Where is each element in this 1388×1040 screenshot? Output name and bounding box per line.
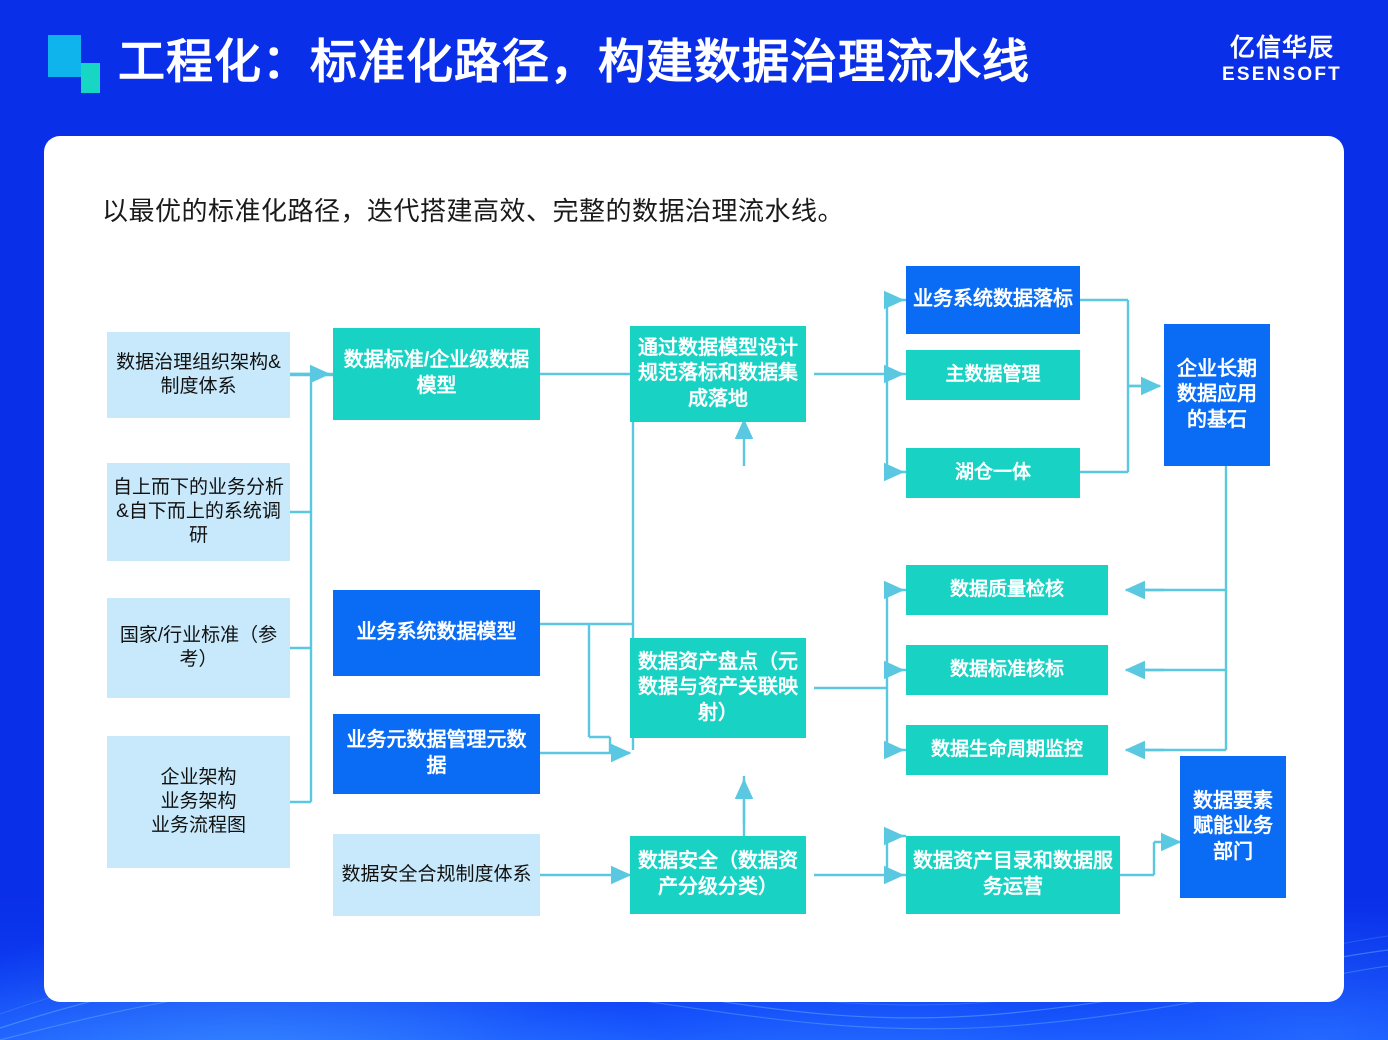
node-data-lifecycle-monitoring[interactable]: 数据生命周期监控 xyxy=(906,725,1108,775)
square-teal-icon xyxy=(81,63,100,93)
node-label: 数据标准核标 xyxy=(944,658,1070,682)
node-label: 业务流程图 xyxy=(145,814,252,838)
node-business-system-data-model[interactable]: 业务系统数据模型 xyxy=(333,590,540,676)
node-label: 数据安全（数据资产分级分类） xyxy=(630,849,806,900)
square-cyan-icon xyxy=(48,35,81,77)
brand-name-en: ESENSOFT xyxy=(1222,63,1342,86)
node-label: 主数据管理 xyxy=(939,363,1046,387)
node-label: 数据标准/企业级数据模型 xyxy=(333,348,540,399)
node-label: 业务元数据管理元数据 xyxy=(333,728,540,779)
node-enterprise-architecture[interactable]: 企业架构 业务架构 业务流程图 xyxy=(107,736,290,868)
node-label: 数据生命周期监控 xyxy=(925,738,1089,762)
node-label: 业务系统数据落标 xyxy=(907,287,1079,313)
node-label: 通过数据模型设计规范落标和数据集成落地 xyxy=(630,336,806,413)
node-business-management-metadata[interactable]: 业务元数据管理元数据 xyxy=(333,714,540,794)
node-label: 业务系统数据模型 xyxy=(351,620,523,646)
node-label: 数据资产目录和数据服务运营 xyxy=(906,849,1120,900)
slide-header: 工程化：标准化路径，构建数据治理流水线 亿信华辰 ESENSOFT xyxy=(0,0,1388,122)
node-label: 数据安全合规制度体系 xyxy=(335,863,537,887)
node-data-security-compliance-system[interactable]: 数据安全合规制度体系 xyxy=(333,834,540,916)
node-label: 数据资产盘点（元数据与资产关联映射） xyxy=(630,650,806,727)
brand-logo: 亿信华辰 ESENSOFT xyxy=(1222,34,1342,86)
node-enterprise-long-term-foundation[interactable]: 企业长期数据应用的基石 xyxy=(1164,324,1270,466)
brand-name-cn: 亿信华辰 xyxy=(1222,34,1342,63)
node-data-asset-inventory[interactable]: 数据资产盘点（元数据与资产关联映射） xyxy=(630,638,806,738)
node-data-element-empower-business[interactable]: 数据要素赋能业务部门 xyxy=(1180,756,1286,898)
node-label: 企业架构 xyxy=(154,766,242,790)
node-label: 数据治理组织架构&制度体系 xyxy=(107,351,290,400)
node-data-standard-enterprise-model[interactable]: 数据标准/企业级数据模型 xyxy=(333,328,540,420)
node-national-industry-standards[interactable]: 国家/行业标准（参考） xyxy=(107,598,290,698)
node-label: 自上而下的业务分析&自下而上的系统调研 xyxy=(107,476,290,549)
node-lakehouse[interactable]: 湖仓一体 xyxy=(906,448,1080,498)
node-data-asset-catalog-service[interactable]: 数据资产目录和数据服务运营 xyxy=(906,836,1120,914)
node-label: 企业长期数据应用的基石 xyxy=(1164,357,1270,434)
node-topdown-bottomup-analysis[interactable]: 自上而下的业务分析&自下而上的系统调研 xyxy=(107,463,290,561)
node-data-standard-verification[interactable]: 数据标准核标 xyxy=(906,645,1108,695)
node-business-system-data-landing[interactable]: 业务系统数据落标 xyxy=(906,266,1080,334)
node-label: 数据质量检核 xyxy=(944,578,1070,602)
pipeline-diagram: 数据治理组织架构&制度体系 自上而下的业务分析&自下而上的系统调研 国家/行业标… xyxy=(44,136,1344,1002)
node-data-security-classification[interactable]: 数据安全（数据资产分级分类） xyxy=(630,836,806,914)
node-model-design-spec-landing[interactable]: 通过数据模型设计规范落标和数据集成落地 xyxy=(630,326,806,422)
content-card: 以最优的标准化路径，迭代搭建高效、完整的数据治理流水线。 xyxy=(44,136,1344,1002)
node-master-data-management[interactable]: 主数据管理 xyxy=(906,350,1080,400)
node-label: 国家/行业标准（参考） xyxy=(107,624,290,673)
node-label: 湖仓一体 xyxy=(949,461,1037,485)
node-label: 业务架构 xyxy=(154,790,242,814)
node-label: 数据要素赋能业务部门 xyxy=(1180,789,1286,866)
logo-marks xyxy=(48,35,104,93)
node-data-governance-org[interactable]: 数据治理组织架构&制度体系 xyxy=(107,332,290,418)
page-title: 工程化：标准化路径，构建数据治理流水线 xyxy=(118,26,1030,98)
node-data-quality-check[interactable]: 数据质量检核 xyxy=(906,565,1108,615)
